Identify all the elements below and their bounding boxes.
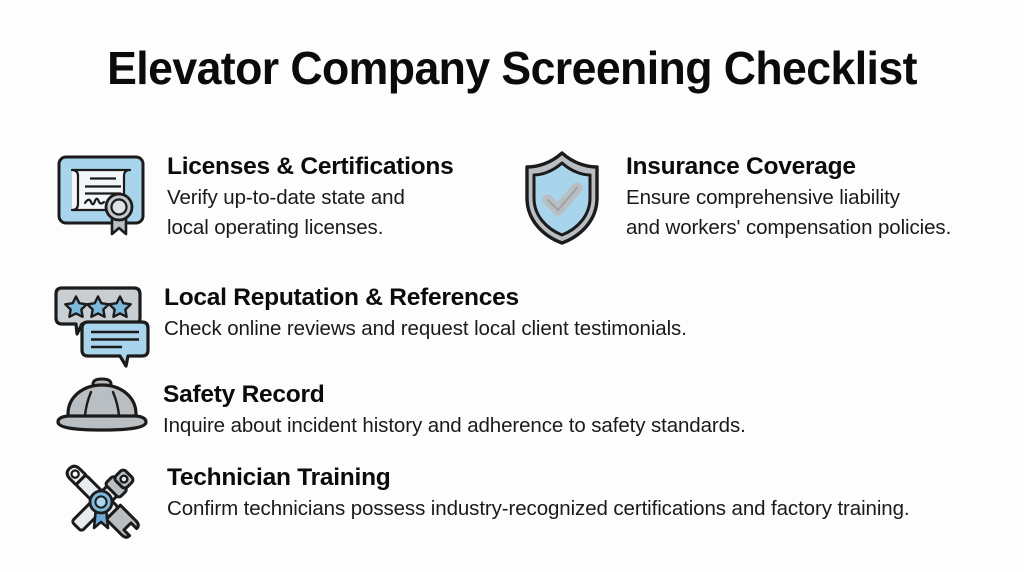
- item-body: Inquire about incident history and adher…: [163, 411, 746, 440]
- checklist-item-text: Safety Record Inquire about incident his…: [163, 381, 746, 441]
- item-heading: Local Reputation & References: [164, 284, 687, 311]
- checklist-item-text: Licenses & Certifications Verify up-to-d…: [167, 153, 453, 242]
- certificate-icon: [52, 150, 156, 253]
- item-heading: Technician Training: [167, 464, 909, 491]
- item-body: Ensure comprehensive liability and worke…: [626, 183, 951, 241]
- page-title: Elevator Company Screening Checklist: [15, 44, 1008, 94]
- item-heading: Licenses & Certifications: [167, 153, 453, 180]
- checklist-item-training: Technician Training Confirm technicians …: [50, 458, 909, 549]
- hard-hat-icon: [52, 372, 152, 449]
- checklist-item-text: Technician Training Confirm technicians …: [167, 464, 909, 524]
- item-heading: Insurance Coverage: [626, 153, 951, 180]
- item-body: Check online reviews and request local c…: [164, 314, 687, 343]
- checklist-item-insurance: Insurance Coverage Ensure comprehensive …: [518, 148, 951, 253]
- item-body: Verify up-to-date state and local operat…: [167, 183, 453, 241]
- checklist-item-reputation: Local Reputation & References Check onli…: [52, 282, 687, 373]
- checklist-item-text: Local Reputation & References Check onli…: [164, 284, 687, 344]
- item-body: Confirm technicians possess industry-rec…: [167, 494, 909, 523]
- shield-check-icon: [518, 148, 606, 253]
- item-heading: Safety Record: [163, 381, 746, 408]
- checklist-item-text: Insurance Coverage Ensure comprehensive …: [626, 153, 951, 242]
- checklist-infographic: Elevator Company Screening Checklist Lic…: [0, 0, 1024, 572]
- checklist-item-licenses: Licenses & Certifications Verify up-to-d…: [52, 150, 453, 253]
- review-bubbles-stars-icon: [52, 282, 152, 373]
- crossed-tools-badge-icon: [50, 458, 154, 549]
- checklist-item-safety: Safety Record Inquire about incident his…: [52, 372, 746, 449]
